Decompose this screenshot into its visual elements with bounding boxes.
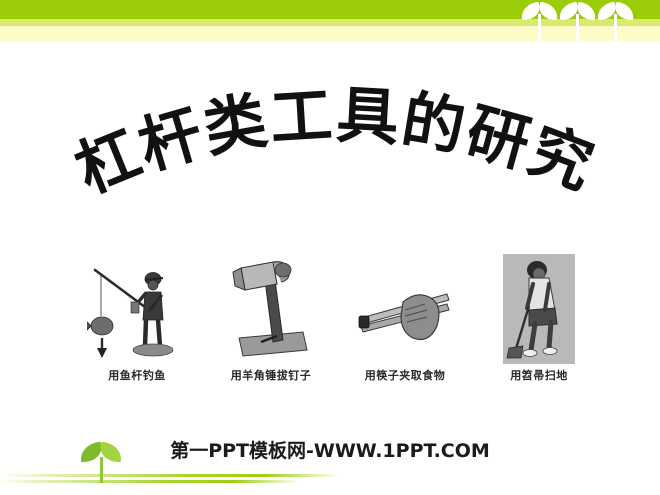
lever-tools-figure-row: 用鱼杆钓鱼 [78, 243, 598, 383]
claw-hammer-illustration [221, 254, 321, 364]
sprout-icon [558, 2, 598, 41]
sprout-leaf-right [538, 2, 559, 20]
sprout-stem [576, 14, 579, 41]
figure-item: 用鱼杆钓鱼 [78, 254, 196, 383]
curved-title-graphic: 杠杆类工具的研究 [0, 85, 660, 205]
sprout-stem [614, 14, 617, 41]
sweeping-broom-illustration [489, 254, 589, 364]
sprout-icon [596, 2, 636, 41]
page-title: 杠杆类工具的研究 [66, 85, 605, 205]
fishing-rod-illustration [87, 254, 187, 364]
footer-line-lower [0, 480, 300, 483]
footer-line-upper [0, 474, 340, 477]
sprout-leaf-right [576, 2, 597, 20]
footer-decorative-lines [0, 474, 400, 488]
figure-item: 用羊角锤拔钉子 [212, 254, 330, 383]
sprout-stem [538, 14, 541, 41]
figure-caption: 用笤帚扫地 [510, 367, 568, 383]
sprout-leaf-right [614, 2, 635, 20]
figure-caption: 用筷子夹取食物 [365, 367, 446, 383]
banner-sprout-group [520, 0, 650, 41]
figure-item: 用笤帚扫地 [480, 254, 598, 383]
slide-title-area: 杠杆类工具的研究 [0, 85, 660, 205]
figure-item: 用筷子夹取食物 [346, 254, 464, 383]
sprout-icon [520, 2, 560, 41]
chopsticks-illustration [355, 254, 455, 364]
figure-caption: 用鱼杆钓鱼 [108, 367, 166, 383]
top-decorative-banner [0, 0, 660, 41]
figure-caption: 用羊角锤拔钉子 [231, 367, 312, 383]
